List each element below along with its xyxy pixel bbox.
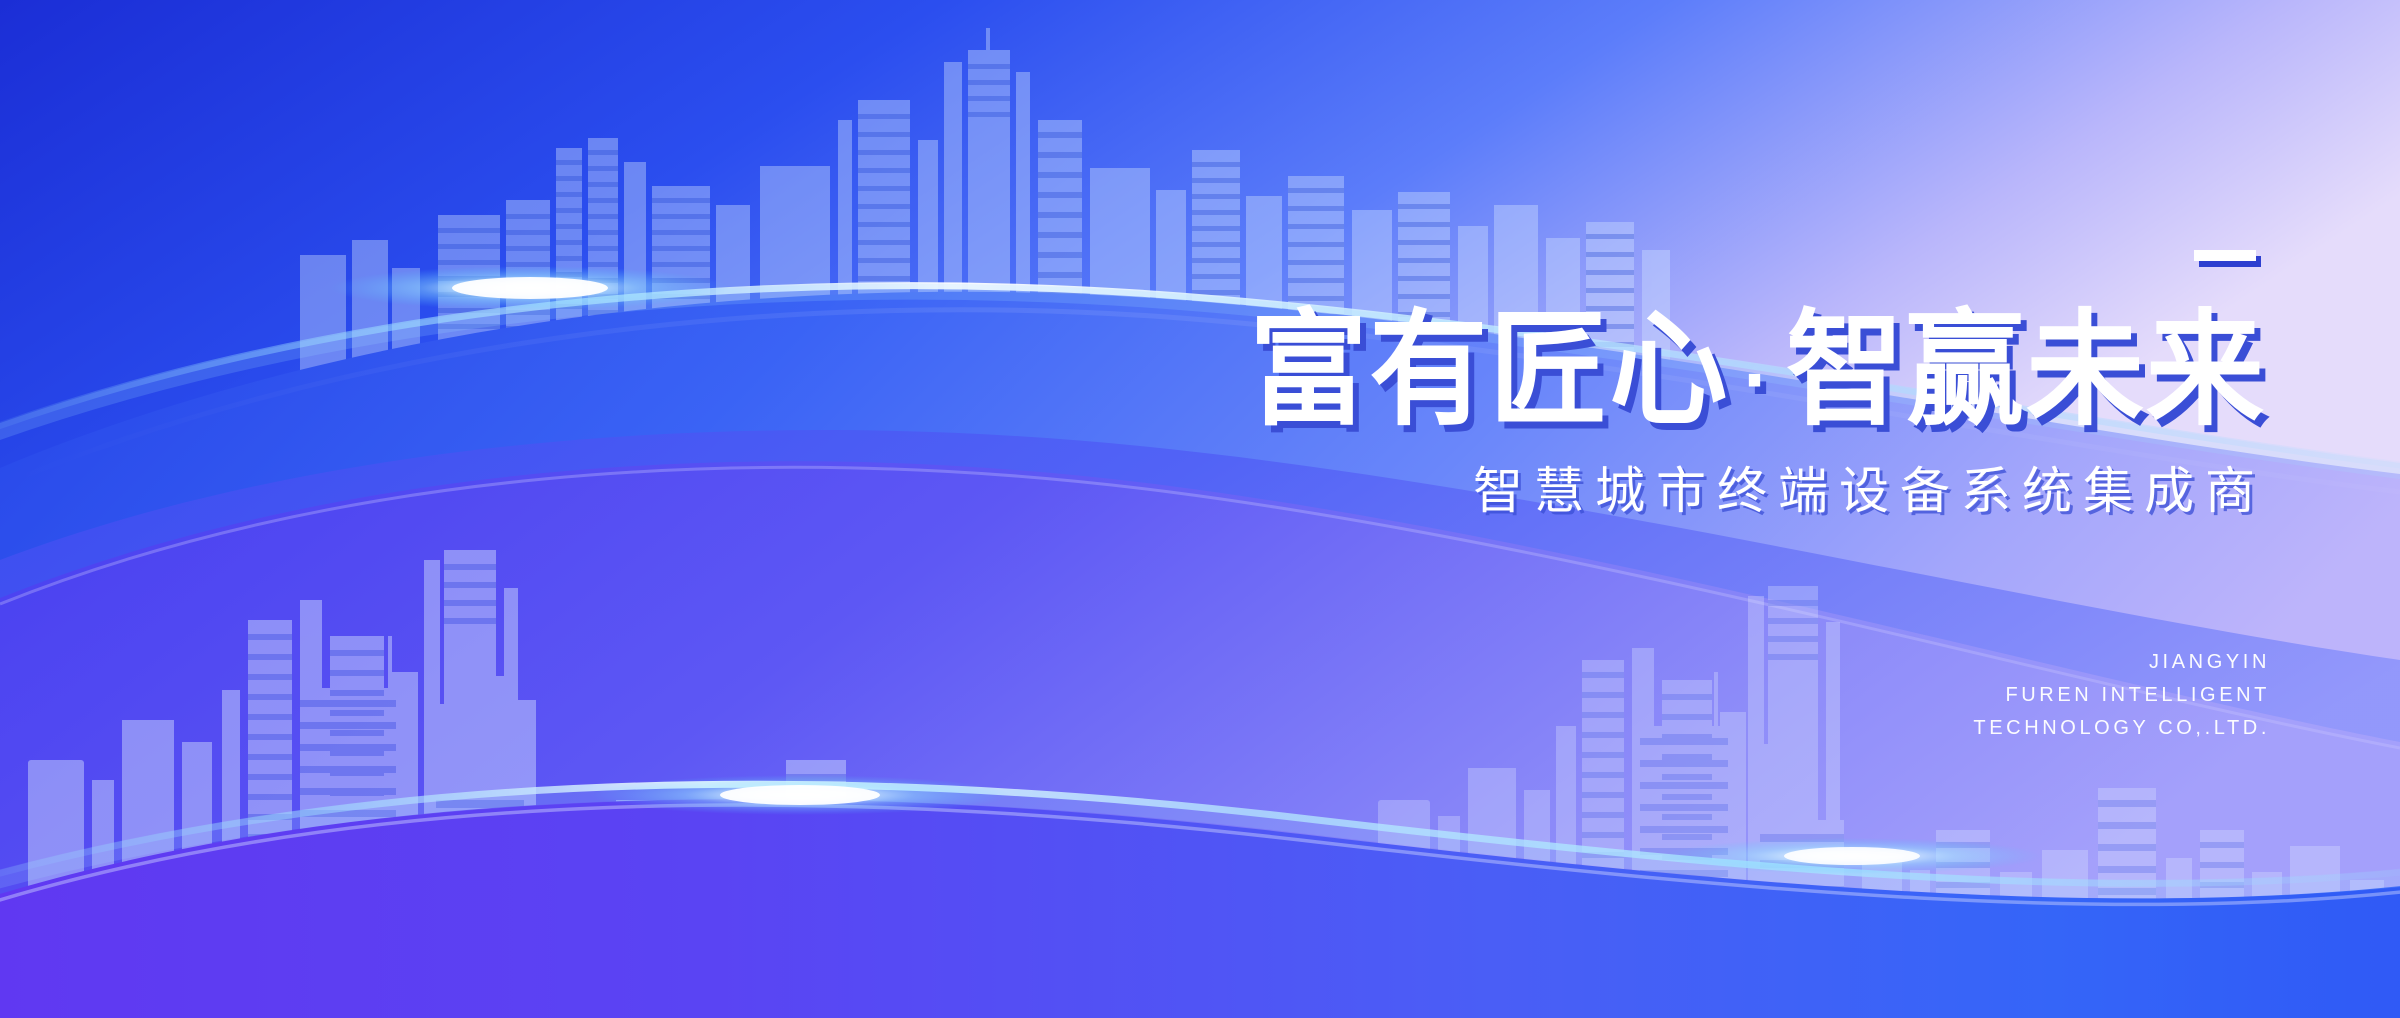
company-name-block: JIANGYIN FUREN INTELLIGENT TECHNOLOGY CO… (1740, 646, 2270, 745)
company-line-3: TECHNOLOGY CO,.LTD. (1740, 712, 2270, 745)
subtitle: 智慧城市终端设备系统集成商 (1040, 464, 2270, 519)
headline-block: 富有匠心·智赢未来 智慧城市终端设备系统集成商 (1040, 250, 2270, 519)
page-title: 富有匠心·智赢未来 (1040, 307, 2270, 435)
headline-right: 智赢未来 (1786, 300, 2266, 440)
company-line-2: FUREN INTELLIGENT (1740, 679, 2270, 712)
headline-separator: · (1729, 332, 1786, 426)
banner-canvas: 富有匠心·智赢未来 智慧城市终端设备系统集成商 JIANGYIN FUREN I… (0, 0, 2400, 1018)
headline-left: 富有匠心 (1249, 300, 1729, 440)
company-line-1: JIANGYIN (1740, 646, 2270, 679)
dash-rule-icon (2194, 250, 2256, 261)
